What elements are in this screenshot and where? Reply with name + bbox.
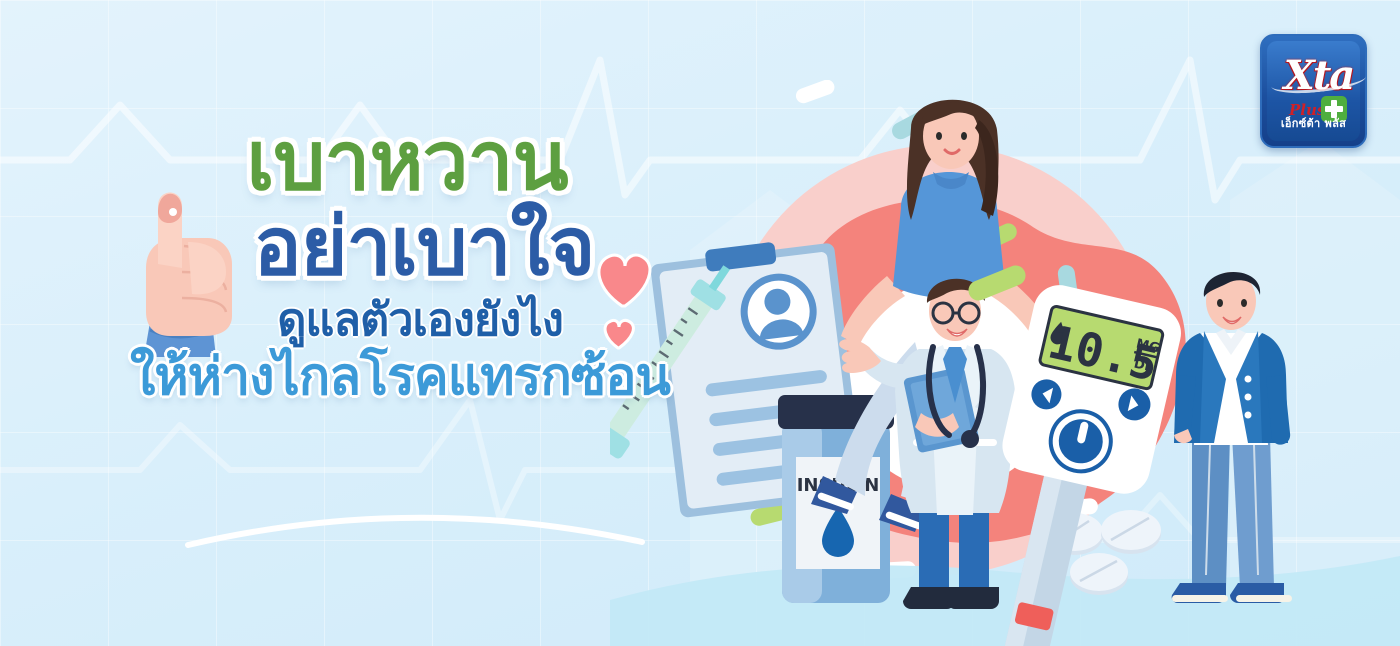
- logo-thai-name: เอ็กซ์ต้า พลัส: [1267, 114, 1360, 132]
- headline-line-4: ให้ห่างไกลโรคแทรกซ้อน: [80, 351, 720, 404]
- standing-man-figure: [1172, 272, 1292, 603]
- headline-line-1: เบาหวาน: [94, 120, 720, 204]
- swoosh-decoration: [180, 500, 650, 550]
- headline-line-3: ดูแลตัวเองยังไง: [120, 297, 720, 343]
- diabetes-care-banner: INSULIN: [0, 0, 1400, 646]
- headline-block: เบาหวาน อย่าเบาใจ ดูแลตัวเองยังไง ให้ห่า…: [80, 120, 720, 404]
- logo-inner-tile: Xta Plus เอ็กซ์ต้า พลัส: [1267, 41, 1360, 141]
- xta-plus-logo[interactable]: Xta Plus เอ็กซ์ต้า พลัส: [1260, 34, 1367, 148]
- diabetes-illustration: INSULIN: [610, 80, 1400, 646]
- headline-line-2: อย่าเบาใจ: [128, 206, 720, 288]
